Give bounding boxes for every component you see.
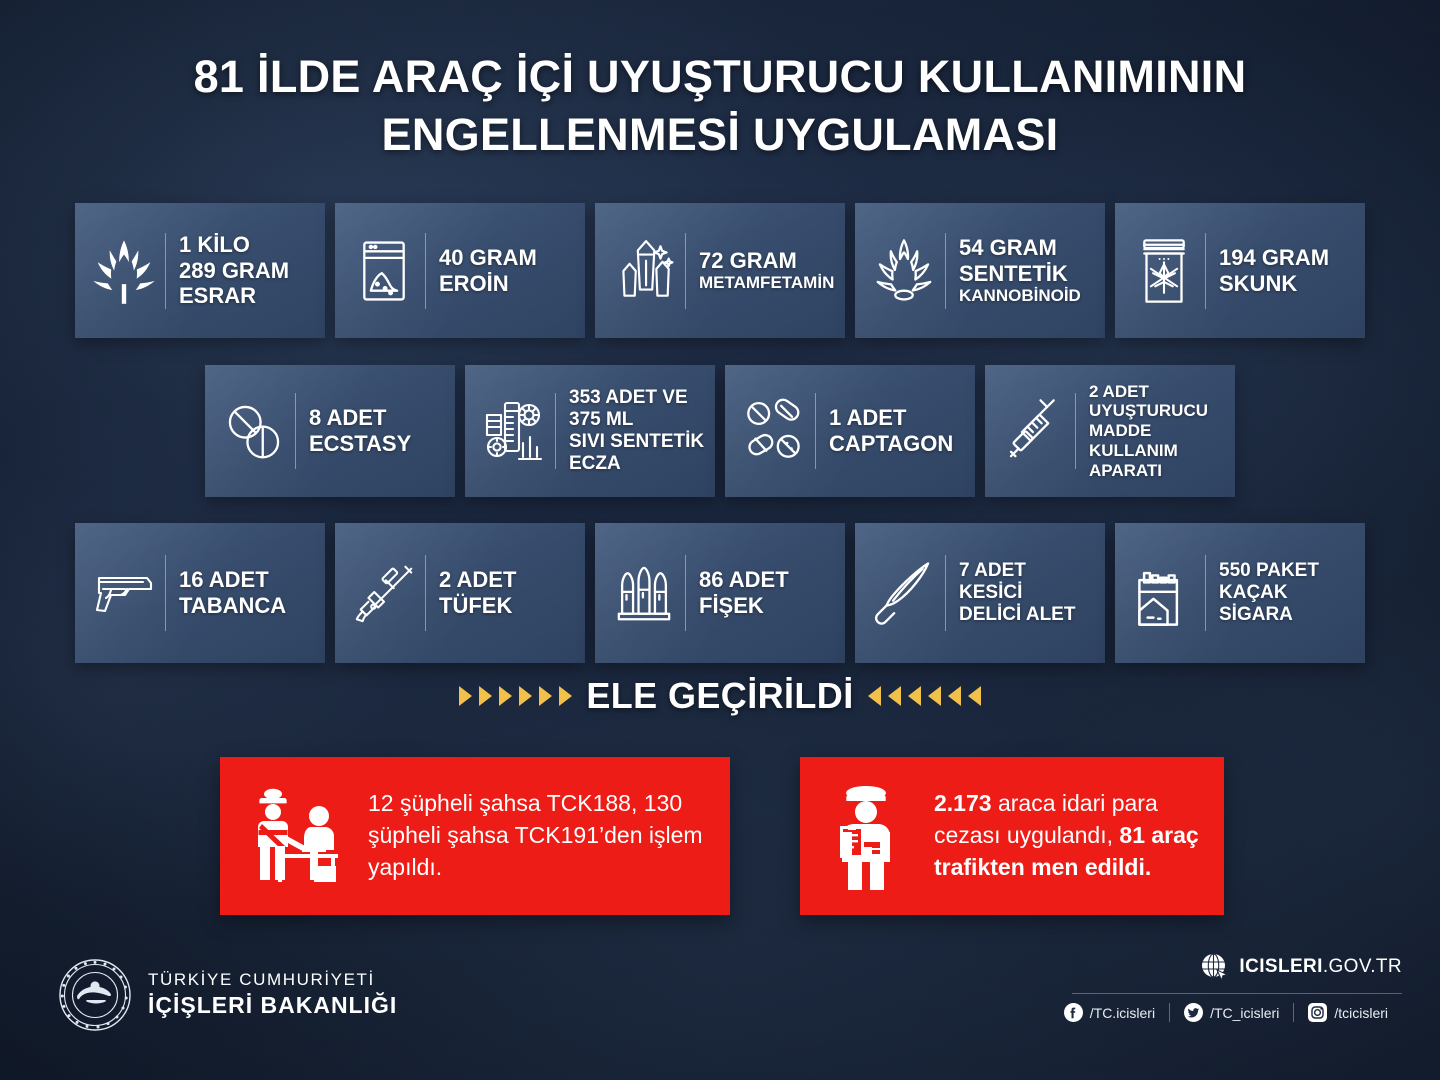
captagon-capsules-icon <box>739 390 809 472</box>
arrow-icon <box>539 686 552 706</box>
stat-card-text: 1 ADETCAPTAGON <box>829 405 961 456</box>
cigarette-pack-icon <box>1129 552 1199 634</box>
stat-card-line: KESİCİ <box>959 582 1091 604</box>
arrow-icon <box>479 686 492 706</box>
legal-action-text: 12 şüpheli şahsa TCK188, 130 şüpheli şah… <box>368 788 710 883</box>
officer-interview-icon <box>240 780 352 892</box>
seized-banner: ELE GEÇİRİLDİ <box>0 675 1440 717</box>
social-handle: /tcicisleri <box>1334 1005 1388 1021</box>
synthetic-cannabinoid-leaf-icon <box>869 230 939 312</box>
traffic-penalty-box: 2.173 araca idari para cezası uygulandı,… <box>800 757 1224 915</box>
website-and-socials: ICISLERI.GOV.TR /TC.icisleri/TC_icisleri… <box>1072 952 1402 1022</box>
twitter-icon <box>1184 1003 1203 1022</box>
stat-card-line: 16 ADET <box>179 567 311 593</box>
syringe-icon <box>999 390 1069 472</box>
footer-divider <box>1072 993 1402 994</box>
stats-row-2: 8 ADETECSTASY353 ADET VE375 MLSIVI SENTE… <box>205 365 1235 497</box>
page-title: 81 İLDE ARAÇ İÇİ UYUŞTURUCU KULLANIMININ… <box>0 52 1440 162</box>
arrow-icon <box>519 686 532 706</box>
body-text: 12 şüpheli şahsa TCK188, 130 şüpheli şah… <box>368 790 703 879</box>
stat-card-text: 353 ADET VE375 MLSIVI SENTETİKECZA <box>569 387 704 475</box>
stat-card: 2 ADETTÜFEK <box>335 523 585 663</box>
stat-card-text: 86 ADETFİŞEK <box>699 567 831 618</box>
heroin-baggie-icon <box>349 230 419 312</box>
stat-card-line: MADDE <box>1089 421 1221 441</box>
stat-card-line: 8 ADET <box>309 405 441 431</box>
stat-card-line: DELİCİ ALET <box>959 604 1091 626</box>
arrow-icon <box>868 686 881 706</box>
stat-card-line: 7 ADET <box>959 560 1091 582</box>
stat-card-line: 289 GRAM <box>179 258 311 284</box>
ministry-line-1: TÜRKİYE CUMHURİYETİ <box>148 970 397 990</box>
bullets-icon <box>609 552 679 634</box>
stat-card: 7 ADETKESİCİDELİCİ ALET <box>855 523 1105 663</box>
stat-card-line: 2 ADET <box>1089 382 1221 402</box>
title-line-2: ENGELLENMESİ UYGULAMASI <box>0 108 1440 162</box>
card-divider <box>555 393 556 469</box>
website-row[interactable]: ICISLERI.GOV.TR <box>1072 952 1402 982</box>
rifle-icon <box>349 552 419 634</box>
stat-card-line: EROİN <box>439 271 571 297</box>
stats-row-1: 1 KİLO289 GRAMESRAR40 GRAMEROİN72 GRAMME… <box>75 203 1365 338</box>
traffic-penalty-text: 2.173 araca idari para cezası uygulandı,… <box>934 788 1204 883</box>
stat-card-text: 2 ADETUYUŞTURUCUMADDEKULLANIMAPARATI <box>1089 382 1221 481</box>
website-bold: ICISLERI <box>1239 956 1322 977</box>
card-divider <box>1075 393 1076 469</box>
social-handle: /TC.icisleri <box>1090 1005 1155 1021</box>
stat-card-line: TABANCA <box>179 593 311 619</box>
stat-card-line: UYUŞTURUCU <box>1089 401 1221 421</box>
arrow-icon <box>908 686 921 706</box>
pistol-icon <box>89 552 159 634</box>
stat-card-text: 8 ADETECSTASY <box>309 405 441 456</box>
stat-card-text: 40 GRAMEROİN <box>439 245 571 296</box>
social-link[interactable]: /tcicisleri <box>1293 1003 1402 1022</box>
stat-card-line: FİŞEK <box>699 593 831 619</box>
lab-equipment-icon <box>479 390 549 472</box>
stat-card: 72 GRAMMETAMFETAMİN <box>595 203 845 338</box>
stat-card: 2 ADETUYUŞTURUCUMADDEKULLANIMAPARATI <box>985 365 1235 497</box>
arrow-icon <box>499 686 512 706</box>
card-divider <box>165 233 166 309</box>
instagram-icon <box>1308 1003 1327 1022</box>
arrow-icon <box>948 686 961 706</box>
title-line-1: 81 İLDE ARAÇ İÇİ UYUŞTURUCU KULLANIMININ <box>0 52 1440 102</box>
stat-card-line: KULLANIM <box>1089 441 1221 461</box>
stat-card: 86 ADETFİŞEK <box>595 523 845 663</box>
arrow-icon <box>968 686 981 706</box>
officer-clipboard-icon <box>820 780 918 892</box>
stat-card-text: 2 ADETTÜFEK <box>439 567 571 618</box>
social-handle: /TC_icisleri <box>1210 1005 1279 1021</box>
stat-card-line: 40 GRAM <box>439 245 571 271</box>
card-divider <box>1205 555 1206 631</box>
stat-card-text: 550 PAKETKAÇAKSİGARA <box>1219 560 1351 626</box>
stat-card-line: 194 GRAM <box>1219 245 1351 271</box>
stat-card-line: APARATI <box>1089 461 1221 481</box>
stat-card-text: 1 KİLO289 GRAMESRAR <box>179 232 311 309</box>
stat-card: 8 ADETECSTASY <box>205 365 455 497</box>
stat-card-line: SIVI SENTETİK <box>569 431 704 453</box>
stat-card-text: 72 GRAMMETAMFETAMİN <box>699 248 834 293</box>
cannabis-leaf-icon <box>89 230 159 312</box>
stat-card-line: SENTETİK <box>959 261 1091 287</box>
stat-card-line: 2 ADET <box>439 567 571 593</box>
ministry-line-2: İÇİŞLERİ BAKANLIĞI <box>148 992 397 1019</box>
legal-action-box: 12 şüpheli şahsa TCK188, 130 şüpheli şah… <box>220 757 730 915</box>
website-rest: .GOV.TR <box>1323 956 1402 977</box>
card-divider <box>425 233 426 309</box>
seized-label: ELE GEÇİRİLDİ <box>586 675 853 717</box>
stat-card-line: CAPTAGON <box>829 431 961 457</box>
stat-card-line: SKUNK <box>1219 271 1351 297</box>
infographic-stage: 81 İLDE ARAÇ İÇİ UYUŞTURUCU KULLANIMININ… <box>0 0 1440 1080</box>
social-link[interactable]: /TC_icisleri <box>1169 1003 1293 1022</box>
stat-card-line: ECZA <box>569 453 704 475</box>
stat-card: 16 ADETTABANCA <box>75 523 325 663</box>
website-label: ICISLERI.GOV.TR <box>1239 956 1402 978</box>
globe-icon <box>1200 952 1230 982</box>
stat-card: 1 ADETCAPTAGON <box>725 365 975 497</box>
skunk-jar-icon <box>1129 230 1199 312</box>
stat-card-line: 1 ADET <box>829 405 961 431</box>
stat-card: 353 ADET VE375 MLSIVI SENTETİKECZA <box>465 365 715 497</box>
stat-card-line: 550 PAKET <box>1219 560 1351 582</box>
card-divider <box>425 555 426 631</box>
stat-card-line: KAÇAK <box>1219 582 1351 604</box>
stat-card-line: KANNOBİNOİD <box>959 286 1091 306</box>
stat-card-text: 54 GRAMSENTETİKKANNOBİNOİD <box>959 235 1091 306</box>
knife-icon <box>869 552 939 634</box>
arrow-icon <box>888 686 901 706</box>
meth-crystals-icon <box>609 230 679 312</box>
facebook-icon <box>1064 1003 1083 1022</box>
turkey-ministry-emblem-icon <box>58 958 132 1032</box>
stat-card-line: 375 ML <box>569 409 704 431</box>
stat-card: 194 GRAMSKUNK <box>1115 203 1365 338</box>
arrow-icon <box>459 686 472 706</box>
ministry-branding: TÜRKİYE CUMHURİYETİ İÇİŞLERİ BAKANLIĞI <box>58 958 397 1032</box>
stat-card-text: 16 ADETTABANCA <box>179 567 311 618</box>
arrow-icon <box>559 686 572 706</box>
stat-card: 40 GRAMEROİN <box>335 203 585 338</box>
stat-card-line: 86 ADET <box>699 567 831 593</box>
stat-card-line: ECSTASY <box>309 431 441 457</box>
ecstasy-pills-icon <box>219 390 289 472</box>
card-divider <box>1205 233 1206 309</box>
stat-card: 1 KİLO289 GRAMESRAR <box>75 203 325 338</box>
arrows-pointing-right <box>459 686 572 706</box>
card-divider <box>945 233 946 309</box>
stat-card-line: 1 KİLO <box>179 232 311 258</box>
arrow-icon <box>928 686 941 706</box>
card-divider <box>945 555 946 631</box>
emphasis-text: 2.173 <box>934 790 992 816</box>
stat-card-line: ESRAR <box>179 283 311 309</box>
card-divider <box>685 233 686 309</box>
card-divider <box>295 393 296 469</box>
arrows-pointing-left <box>868 686 981 706</box>
stat-card-text: 194 GRAMSKUNK <box>1219 245 1351 296</box>
stats-row-3: 16 ADETTABANCA2 ADETTÜFEK86 ADETFİŞEK7 A… <box>75 523 1365 663</box>
stat-card-line: METAMFETAMİN <box>699 273 834 293</box>
stat-card-line: 353 ADET VE <box>569 387 704 409</box>
stat-card-line: 72 GRAM <box>699 248 834 274</box>
card-divider <box>685 555 686 631</box>
card-divider <box>815 393 816 469</box>
stat-card-line: TÜFEK <box>439 593 571 619</box>
card-divider <box>165 555 166 631</box>
stat-card: 550 PAKETKAÇAKSİGARA <box>1115 523 1365 663</box>
social-link[interactable]: /TC.icisleri <box>1050 1003 1169 1022</box>
social-links: /TC.icisleri/TC_icisleri/tcicisleri <box>1072 1003 1402 1022</box>
stat-card-line: 54 GRAM <box>959 235 1091 261</box>
stat-card-text: 7 ADETKESİCİDELİCİ ALET <box>959 560 1091 626</box>
stat-card-line: SİGARA <box>1219 604 1351 626</box>
stat-card: 54 GRAMSENTETİKKANNOBİNOİD <box>855 203 1105 338</box>
